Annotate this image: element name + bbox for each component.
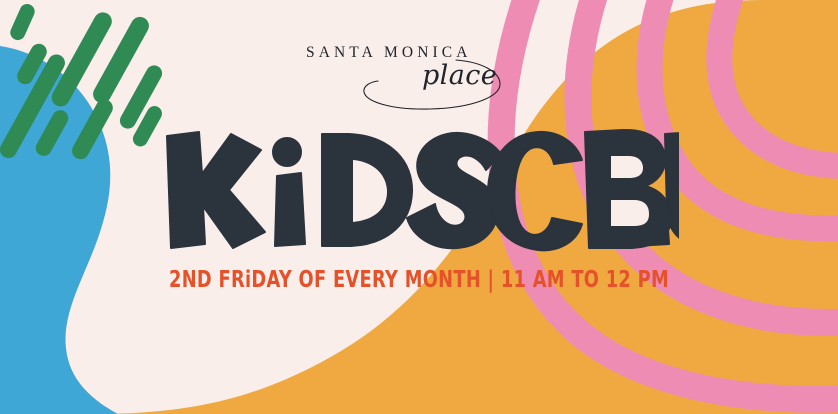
brand-name-script: place xyxy=(422,62,497,89)
letter-i-dot xyxy=(273,138,301,166)
brand-logo: SANTA MONICA place xyxy=(0,42,838,112)
brand-logo-inner: SANTA MONICA place xyxy=(304,42,534,112)
letter-B xyxy=(585,130,671,248)
letter-B-counter-top xyxy=(611,156,643,178)
headline-lettering xyxy=(159,126,679,252)
letter-C xyxy=(488,132,582,250)
letter-B-counter-bottom xyxy=(611,200,649,226)
poster-content: SANTA MONICA place xyxy=(0,0,838,414)
letter-i-stem xyxy=(275,173,305,246)
headline xyxy=(0,126,838,252)
subtitle-text: 2ND FRiDAY OF EVERY MONTH | 11 AM TO 12 … xyxy=(169,267,669,293)
kids-club-poster: SANTA MONICA place xyxy=(0,0,838,414)
letter-K xyxy=(167,132,265,248)
subtitle: 2ND FRiDAY OF EVERY MONTH | 11 AM TO 12 … xyxy=(0,262,838,302)
subtitle-lettering: 2ND FRiDAY OF EVERY MONTH | 11 AM TO 12 … xyxy=(159,262,679,296)
letter-S xyxy=(407,133,501,248)
